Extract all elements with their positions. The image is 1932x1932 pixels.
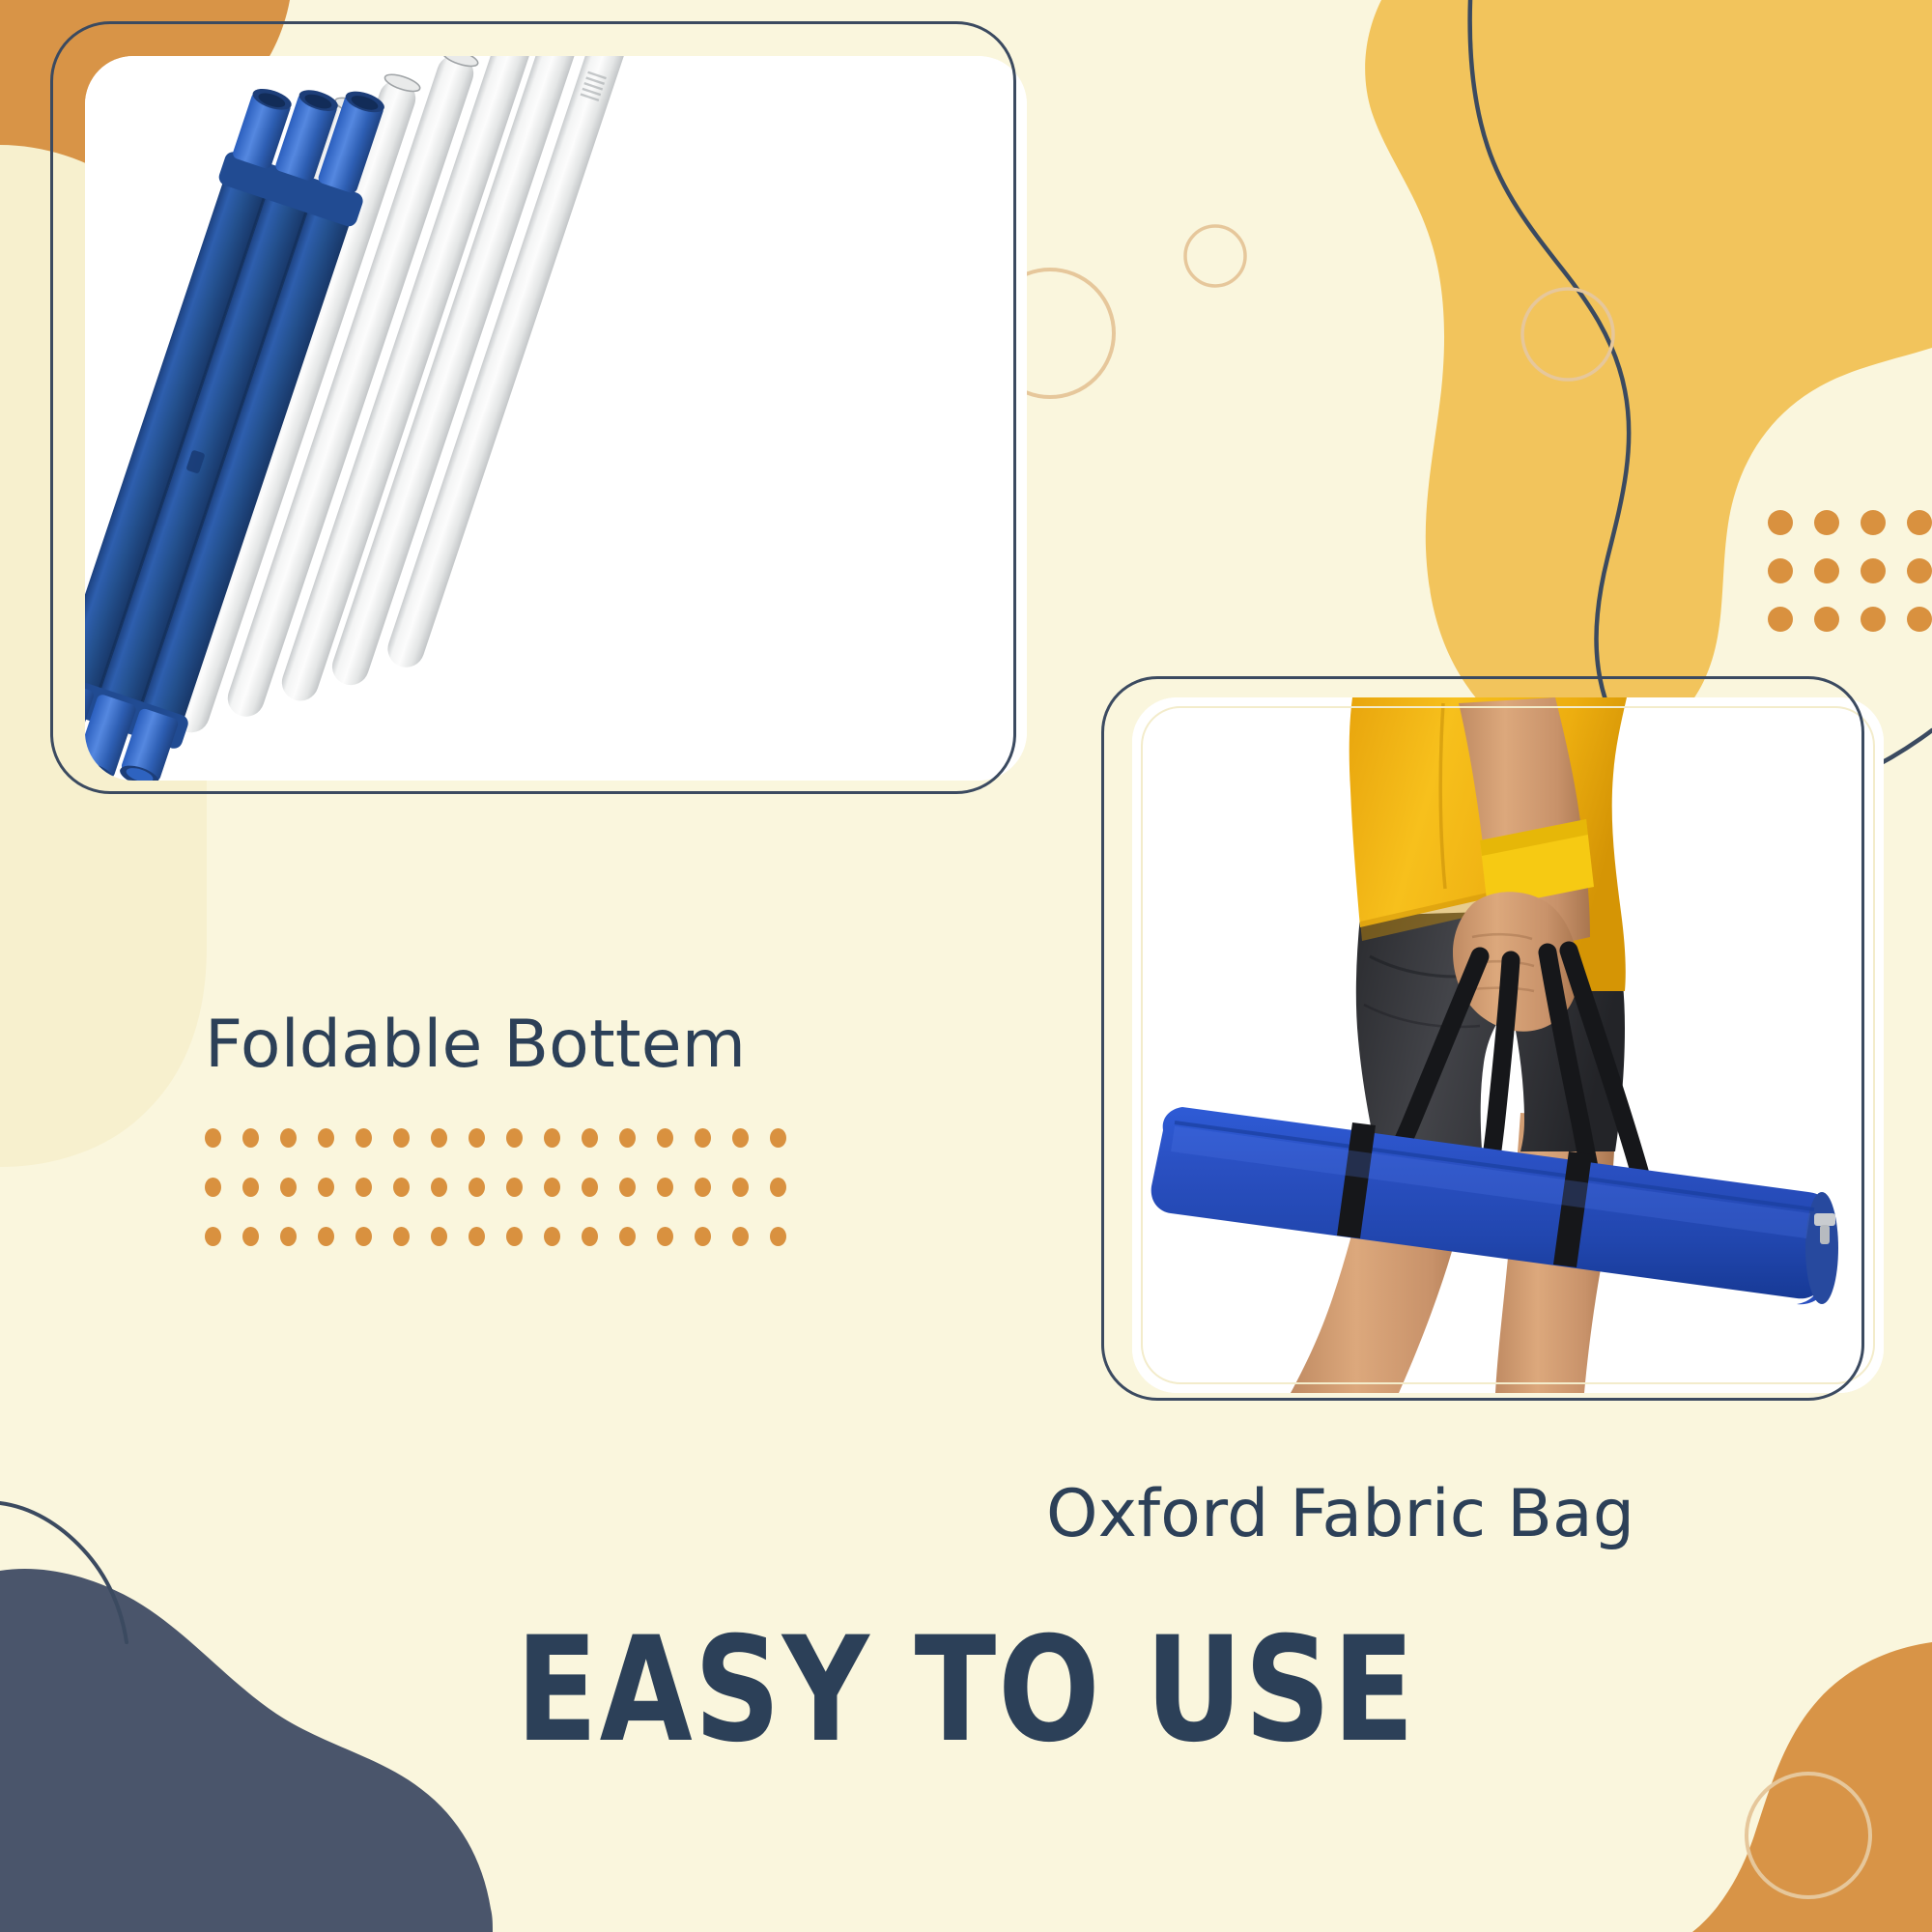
dot bbox=[205, 1227, 221, 1246]
headline-easy-to-use: EASY TO USE bbox=[77, 1618, 1855, 1763]
dot bbox=[619, 1178, 636, 1197]
dot bbox=[657, 1227, 673, 1246]
dot bbox=[280, 1227, 297, 1246]
dot bbox=[582, 1128, 598, 1148]
dot bbox=[280, 1128, 297, 1148]
dot bbox=[318, 1178, 334, 1197]
card-outline-oxford-bag bbox=[1101, 676, 1864, 1401]
dot bbox=[732, 1227, 749, 1246]
dot bbox=[205, 1128, 221, 1148]
dot bbox=[506, 1128, 523, 1148]
dot bbox=[1814, 510, 1839, 535]
dot bbox=[242, 1227, 259, 1246]
dot bbox=[770, 1178, 786, 1197]
dot bbox=[657, 1128, 673, 1148]
dot bbox=[355, 1128, 372, 1148]
dot bbox=[695, 1227, 711, 1246]
dot bbox=[657, 1178, 673, 1197]
dot bbox=[770, 1128, 786, 1148]
dot bbox=[695, 1178, 711, 1197]
caption-oxford-fabric-bag: Oxford Fabric Bag bbox=[1046, 1476, 1634, 1552]
dot bbox=[1768, 558, 1793, 583]
dot bbox=[1907, 510, 1932, 535]
dot bbox=[393, 1227, 410, 1246]
dot bbox=[732, 1128, 749, 1148]
poster-canvas: Foldable Bottem bbox=[0, 0, 1932, 1932]
dot bbox=[506, 1178, 523, 1197]
dot bbox=[582, 1227, 598, 1246]
dot bbox=[1768, 607, 1793, 632]
dot bbox=[544, 1227, 560, 1246]
dot bbox=[469, 1128, 485, 1148]
dot bbox=[1861, 558, 1886, 583]
dot bbox=[770, 1227, 786, 1246]
dot-grid-left bbox=[205, 1128, 786, 1246]
dot bbox=[280, 1178, 297, 1197]
dot bbox=[205, 1178, 221, 1197]
dot bbox=[393, 1178, 410, 1197]
dot bbox=[318, 1128, 334, 1148]
dot bbox=[619, 1227, 636, 1246]
dot bbox=[469, 1178, 485, 1197]
dot bbox=[242, 1178, 259, 1197]
dot bbox=[1768, 510, 1793, 535]
dot bbox=[1814, 607, 1839, 632]
dot bbox=[1861, 510, 1886, 535]
card-outline-foldable-bottom bbox=[50, 21, 1016, 794]
dot bbox=[431, 1178, 447, 1197]
dot bbox=[355, 1178, 372, 1197]
dot bbox=[318, 1227, 334, 1246]
dot bbox=[1907, 558, 1932, 583]
dot bbox=[431, 1227, 447, 1246]
dot bbox=[582, 1178, 598, 1197]
dot bbox=[732, 1178, 749, 1197]
dot bbox=[619, 1128, 636, 1148]
caption-foldable-bottom: Foldable Bottem bbox=[205, 1007, 746, 1083]
dot bbox=[1861, 607, 1886, 632]
dot bbox=[695, 1128, 711, 1148]
dot bbox=[1814, 558, 1839, 583]
dot bbox=[242, 1128, 259, 1148]
dot-grid-top-right bbox=[1768, 510, 1932, 632]
dot bbox=[393, 1128, 410, 1148]
dot bbox=[544, 1178, 560, 1197]
dot bbox=[506, 1227, 523, 1246]
dot bbox=[355, 1227, 372, 1246]
dot bbox=[469, 1227, 485, 1246]
dot bbox=[1907, 607, 1932, 632]
dot bbox=[544, 1128, 560, 1148]
dot bbox=[431, 1128, 447, 1148]
